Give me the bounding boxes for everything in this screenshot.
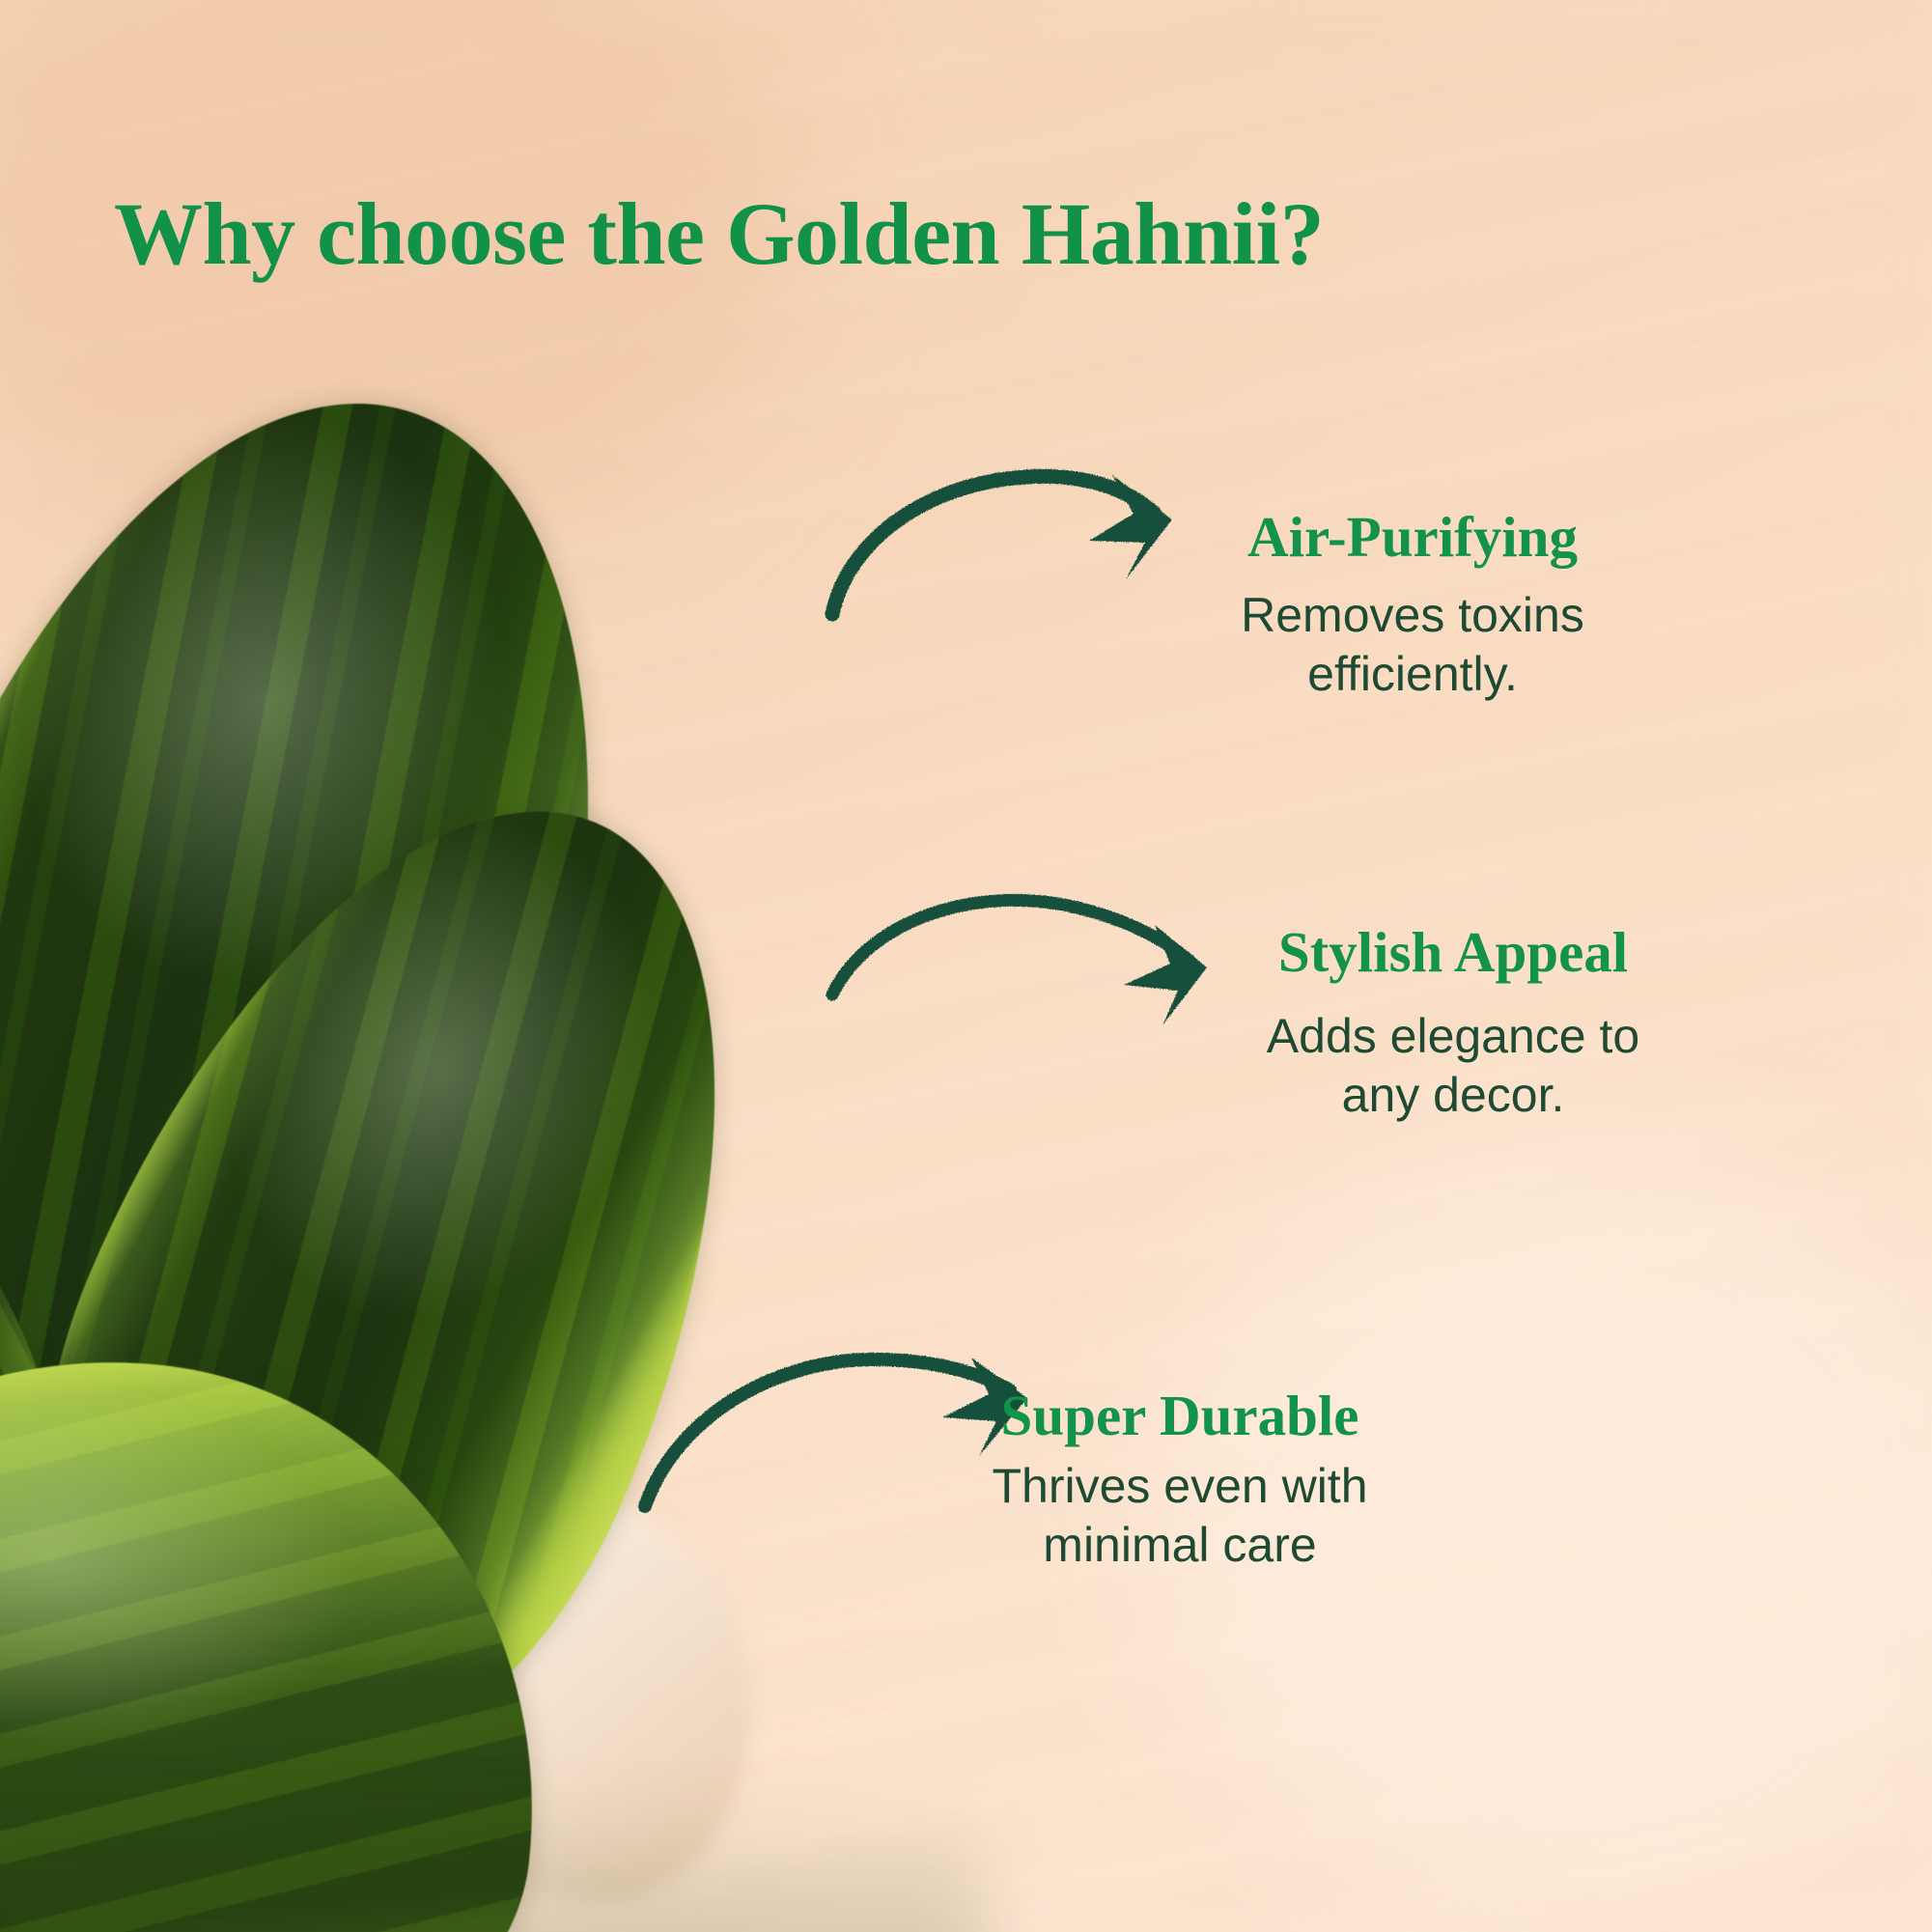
leaf-foreground-bottom xyxy=(0,1318,576,1932)
feature-callout-stylish-appeal: Stylish Appeal Adds elegance to any deco… xyxy=(1221,922,1685,1125)
snake-plant-photo xyxy=(0,406,1062,1932)
feature-title: Stylish Appeal xyxy=(1221,922,1685,984)
pot-front xyxy=(386,1497,753,1902)
arrow-to-super-durable xyxy=(645,1358,1027,1506)
leaf-secondary-middle xyxy=(0,710,862,1878)
promo-poster: Why choose the Golden Hahnii? Air-Purify… xyxy=(0,0,1932,1932)
arrow-to-air-purifying xyxy=(832,475,1172,614)
feature-callout-air-purifying: Air-Purifying Removes toxins efficiently… xyxy=(1186,507,1639,704)
arrow-to-stylish-appeal xyxy=(832,900,1207,1025)
feature-title: Air-Purifying xyxy=(1186,507,1639,569)
leaf-lower-curled xyxy=(0,1107,115,1885)
page-title: Why choose the Golden Hahnii? xyxy=(114,188,1755,281)
feature-description: Removes toxins efficiently. xyxy=(1186,586,1639,704)
pot-rim xyxy=(0,782,106,975)
feature-callout-super-durable: Super Durable Thrives even with minimal … xyxy=(987,1386,1373,1575)
leaf-tip-bottom-left xyxy=(0,1581,49,1932)
leaf-primary-upper xyxy=(0,312,731,1599)
depth-of-field-blur xyxy=(0,1796,985,1932)
pot-soil xyxy=(0,695,135,946)
feature-description: Adds elegance to any decor. xyxy=(1221,1007,1685,1125)
feature-description: Thrives even with minimal care xyxy=(987,1457,1373,1575)
feature-title: Super Durable xyxy=(987,1386,1373,1447)
